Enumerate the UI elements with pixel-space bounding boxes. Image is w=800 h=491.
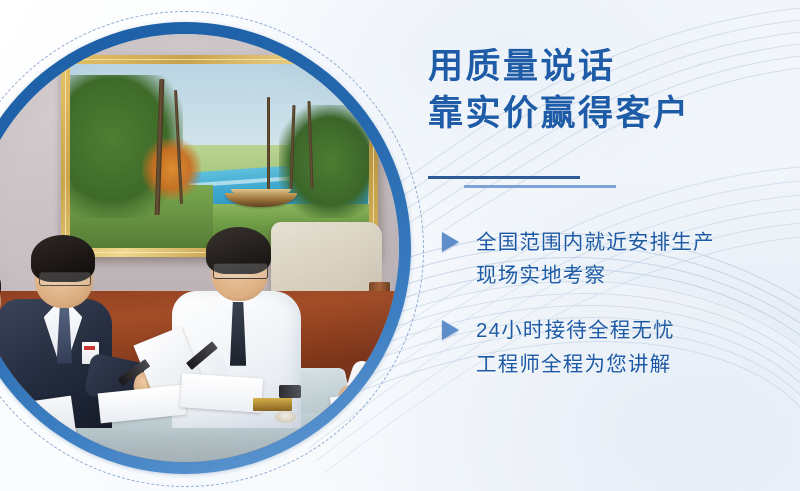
headline-line-1: 用质量说话 [428,44,800,91]
bullet-2-line-2: 工程师全程为您讲解 [476,348,800,381]
list-item: 24小时接待全程无忧 工程师全程为您讲解 [424,314,800,380]
meeting-photo [0,34,399,462]
bullet-2-line-1: 24小时接待全程无忧 [476,314,800,347]
headline-line-2: 靠实价赢得客户 [428,91,800,138]
page-title: 用质量说话 靠实价赢得客户 [428,44,800,138]
content-panel: 用质量说话 靠实价赢得客户 全国范围内就近安排生产 现场实地考察 24小时接待全… [424,0,800,491]
divider-rule-top [428,176,580,179]
divider-rule-bottom [464,185,616,188]
play-arrow-icon [442,320,459,340]
feature-list: 全国范围内就近安排生产 现场实地考察 24小时接待全程无忧 工程师全程为您讲解 [424,226,800,403]
bullet-1-line-2: 现场实地考察 [476,259,800,292]
photo-medallion [0,5,430,491]
list-item: 全国范围内就近安排生产 现场实地考察 [424,226,800,292]
play-arrow-icon [442,232,459,252]
divider [428,176,668,194]
bullet-1-line-1: 全国范围内就近安排生产 [476,226,800,259]
promo-banner: 用质量说话 靠实价赢得客户 全国范围内就近安排生产 现场实地考察 24小时接待全… [0,0,800,491]
